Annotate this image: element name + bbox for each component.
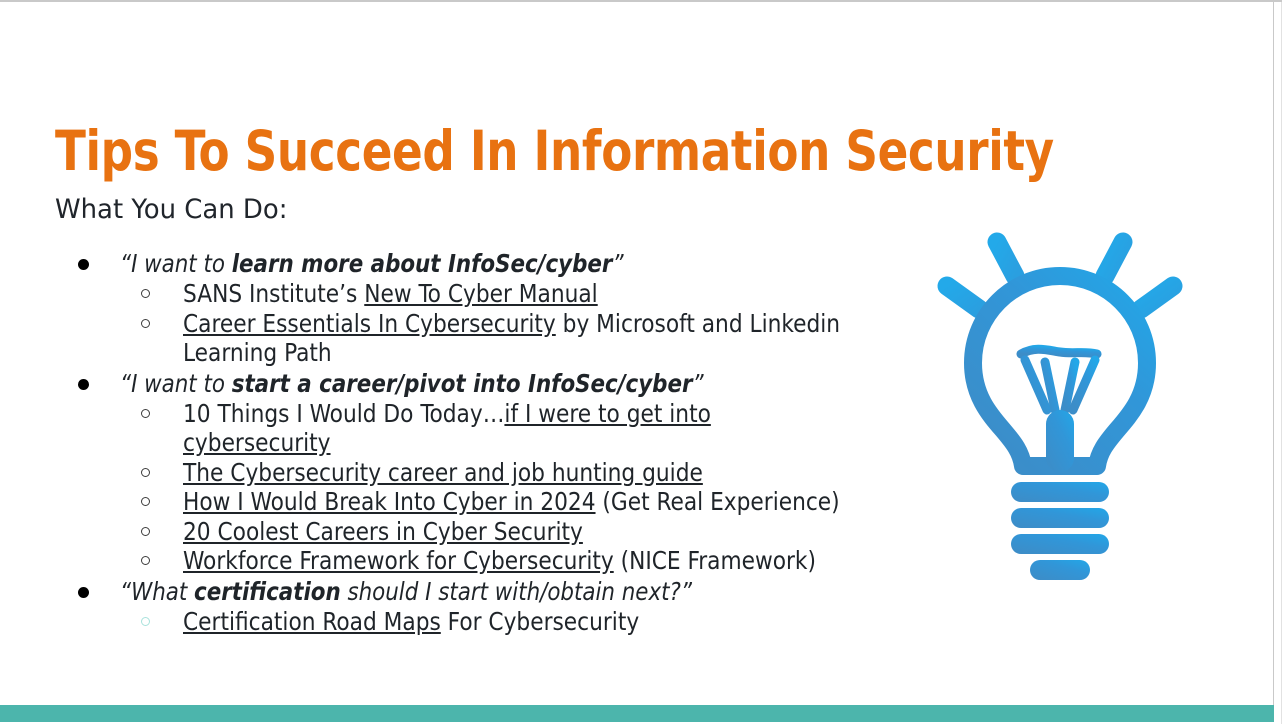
bullet-emphasis: start a career/pivot into InfoSec/cyber bbox=[232, 369, 693, 398]
resource-link[interactable]: if I were to get into cybersecurity bbox=[183, 399, 711, 458]
resource-link[interactable]: How I Would Break Into Cyber in 2024 bbox=[183, 487, 596, 516]
bullet-marker-hollow bbox=[141, 527, 150, 536]
bullet-marker-hollow bbox=[141, 556, 150, 565]
bullet-text: “I want to start a career/pivot into Inf… bbox=[120, 368, 704, 399]
slide-right-edge bbox=[1273, 2, 1274, 711]
sub-bullet-item: SANS Institute’s New To Cyber Manual bbox=[60, 279, 875, 309]
bullet-marker-filled bbox=[78, 379, 89, 390]
resource-link[interactable]: The Cybersecurity career and job hunting… bbox=[183, 458, 703, 487]
bullet-item: “I want to start a career/pivot into Inf… bbox=[60, 368, 875, 399]
bullet-text: “What certification should I start with/… bbox=[120, 576, 692, 607]
bullet-marker-hollow bbox=[141, 497, 150, 506]
sub-bullet-item: Career Essentials In Cybersecurity by Mi… bbox=[60, 309, 875, 368]
sub-bullet-text: 10 Things I Would Do Today…if I were to … bbox=[183, 399, 865, 458]
resource-link[interactable]: Career Essentials In Cybersecurity bbox=[183, 309, 556, 338]
bullet-marker-filled bbox=[78, 587, 89, 598]
sub-bullet-text: 20 Coolest Careers in Cyber Security bbox=[183, 517, 865, 547]
resource-link[interactable]: Certification Road Maps bbox=[183, 607, 441, 636]
footer-accent-bar bbox=[0, 705, 1274, 722]
sub-bullet-text: Workforce Framework for Cybersecurity (N… bbox=[183, 546, 865, 576]
bullet-emphasis: learn more about InfoSec/cyber bbox=[232, 249, 613, 278]
bullet-marker-hollow bbox=[141, 617, 150, 626]
sub-bullet-item: 10 Things I Would Do Today…if I were to … bbox=[60, 399, 875, 458]
page-title: Tips To Succeed In Information Security bbox=[55, 118, 1054, 184]
bullet-marker-filled bbox=[78, 259, 89, 270]
section-subtitle: What You Can Do: bbox=[55, 193, 287, 227]
lightbulb-base bbox=[1011, 482, 1109, 580]
sub-bullet-text: Career Essentials In Cybersecurity by Mi… bbox=[183, 309, 865, 368]
sub-bullet-item: The Cybersecurity career and job hunting… bbox=[60, 458, 875, 488]
resource-link[interactable]: 20 Coolest Careers in Cyber Security bbox=[183, 517, 583, 546]
sub-bullet-item: 20 Coolest Careers in Cyber Security bbox=[60, 517, 875, 547]
bullet-item: “I want to learn more about InfoSec/cybe… bbox=[60, 248, 875, 279]
resource-link[interactable]: Workforce Framework for Cybersecurity bbox=[183, 546, 614, 575]
bullet-marker-hollow bbox=[141, 319, 150, 328]
slide-canvas: Tips To Succeed In Information Security … bbox=[0, 0, 1282, 724]
resource-link[interactable]: New To Cyber Manual bbox=[364, 279, 597, 308]
lightbulb-filament bbox=[1021, 349, 1097, 472]
bullet-item: “What certification should I start with/… bbox=[60, 576, 875, 607]
sub-bullet-item: Workforce Framework for Cybersecurity (N… bbox=[60, 546, 875, 576]
sub-bullet-text: SANS Institute’s New To Cyber Manual bbox=[183, 279, 865, 309]
lightbulb-icon bbox=[915, 214, 1205, 589]
lightbulb-rays bbox=[947, 222, 1173, 309]
sub-bullet-item: How I Would Break Into Cyber in 2024 (Ge… bbox=[60, 487, 875, 517]
bullet-marker-hollow bbox=[141, 468, 150, 477]
bullet-marker-hollow bbox=[141, 289, 150, 298]
sub-bullet-text: The Cybersecurity career and job hunting… bbox=[183, 458, 865, 488]
bullet-list: “I want to learn more about InfoSec/cybe… bbox=[60, 248, 875, 636]
sub-bullet-text: How I Would Break Into Cyber in 2024 (Ge… bbox=[183, 487, 865, 517]
sub-bullet-text: Certification Road Maps For Cybersecurit… bbox=[183, 607, 865, 637]
sub-bullet-item: Certification Road Maps For Cybersecurit… bbox=[60, 607, 875, 637]
bullet-emphasis: certification bbox=[194, 577, 341, 606]
bullet-text: “I want to learn more about InfoSec/cybe… bbox=[120, 248, 624, 279]
bullet-marker-hollow bbox=[141, 409, 150, 418]
